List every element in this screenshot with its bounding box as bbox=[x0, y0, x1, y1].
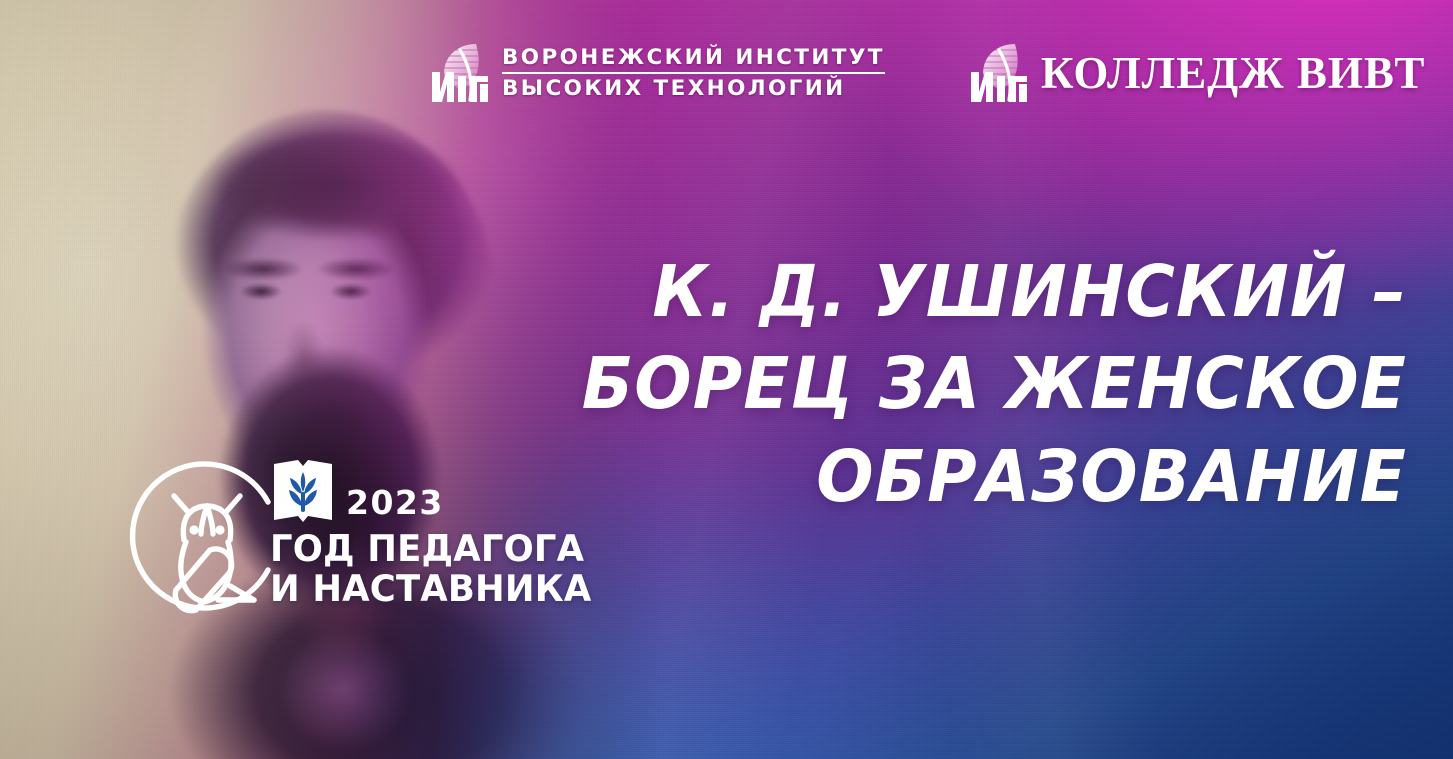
year-number: 2023 bbox=[346, 486, 444, 528]
institute-logo[interactable]: ВОРОНЕЖСКИЙ ИНСТИТУТ ВЫСОКИХ ТЕХНОЛОГИЙ bbox=[430, 42, 885, 104]
poster-canvas: ВОРОНЕЖСКИЙ ИНСТИТУТ ВЫСОКИХ ТЕХНОЛОГИЙ bbox=[0, 0, 1453, 759]
title-line-3: ОБРАЗОВАНИЕ bbox=[571, 431, 1407, 523]
college-logo[interactable]: КОЛЛЕДЖ ВИВТ bbox=[969, 42, 1426, 104]
year-emblem-text-group: 2023 ГОД ПЕДАГОГА И НАСТАВНИКА bbox=[270, 446, 630, 608]
vivt-swoosh-monogram-icon bbox=[430, 42, 490, 104]
year-emblem-name-line2: И НАСТАВНИКА bbox=[270, 570, 619, 608]
year-emblem-name-line1: ГОД ПЕДАГОГА bbox=[270, 530, 619, 568]
vivt-swoosh-monogram-icon bbox=[969, 42, 1029, 104]
year-emblem-top-row: 2023 bbox=[270, 446, 630, 528]
year-of-teacher-emblem[interactable]: 2023 ГОД ПЕДАГОГА И НАСТАВНИКА bbox=[118, 446, 628, 664]
owl-in-circle-icon bbox=[118, 450, 290, 622]
header-logos: ВОРОНЕЖСКИЙ ИНСТИТУТ ВЫСОКИХ ТЕХНОЛОГИЙ bbox=[430, 42, 1425, 104]
title-line-1: К. Д. УШИНСКИЙ – bbox=[571, 246, 1407, 338]
college-logo-text: КОЛЛЕДЖ ВИВТ bbox=[1041, 47, 1426, 99]
title-line-2: БОРЕЦ ЗА ЖЕНСКОЕ bbox=[571, 338, 1407, 430]
institute-logo-text: ВОРОНЕЖСКИЙ ИНСТИТУТ ВЫСОКИХ ТЕХНОЛОГИЙ bbox=[502, 47, 885, 99]
institute-logo-line1: ВОРОНЕЖСКИЙ ИНСТИТУТ bbox=[502, 47, 885, 74]
institute-logo-line2: ВЫСОКИХ ТЕХНОЛОГИЙ bbox=[502, 74, 885, 100]
open-book-with-wheat-icon bbox=[270, 456, 336, 528]
page-title: К. Д. УШИНСКИЙ – БОРЕЦ ЗА ЖЕНСКОЕ ОБРАЗО… bbox=[527, 246, 1407, 523]
